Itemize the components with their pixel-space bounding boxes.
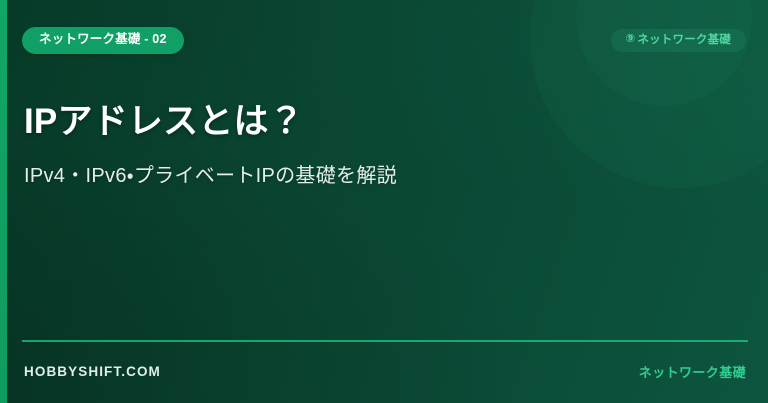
slide-footer: HOBBYSHIFT.COM ネットワーク基礎 (24, 362, 746, 381)
slide-content: ネットワーク基礎 - 02 ⑨ ネットワーク基礎 IPアドレスとは？ IPv4・… (0, 0, 768, 403)
category-badge-label: ネットワーク基礎 (637, 34, 731, 47)
circled-number-icon: ⑨ (625, 34, 635, 46)
category-badge: ⑨ ネットワーク基礎 (611, 29, 746, 53)
series-badge: ネットワーク基礎 - 02 (22, 27, 184, 54)
footer-brand: HOBBYSHIFT.COM (24, 364, 161, 379)
hero-block: IPアドレスとは？ IPv4・IPv6・プライベートIPの基礎を解説 (24, 101, 728, 189)
page-subtitle: IPv4・IPv6・プライベートIPの基礎を解説 (24, 163, 728, 189)
footer-category: ネットワーク基礎 (639, 362, 746, 381)
footer-divider (22, 340, 748, 342)
left-accent-bar (0, 0, 7, 403)
page-title: IPアドレスとは？ (24, 101, 728, 142)
slide-header: ネットワーク基礎 - 02 ⑨ ネットワーク基礎 (22, 27, 746, 54)
presentation-slide: ネットワーク基礎 - 02 ⑨ ネットワーク基礎 IPアドレスとは？ IPv4・… (0, 0, 768, 403)
